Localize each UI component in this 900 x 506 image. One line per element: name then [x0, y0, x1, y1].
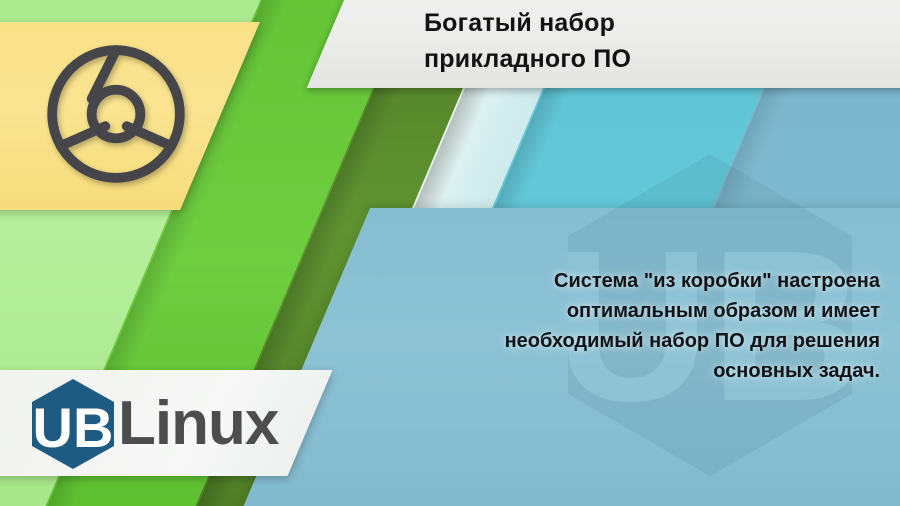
body-line-1: Система "из коробки" настроена: [410, 266, 880, 296]
ublinux-logo: UB Linux: [30, 378, 278, 470]
title-line-1: Богатый набор: [424, 6, 864, 42]
body-line-3: необходимый набор ПО для решения: [410, 326, 880, 356]
presentation-slide: UB Богатый набор прикладного ПО Система …: [0, 0, 900, 506]
title-line-2: прикладного ПО: [424, 42, 864, 78]
ub-mark-text: UB: [33, 396, 114, 459]
body-line-4: основных задач.: [410, 356, 880, 386]
body-line-2: оптимальным образом и имеет: [410, 296, 880, 326]
chrome-browser-icon: [40, 38, 192, 190]
ub-hexagon-icon: UB: [30, 378, 116, 470]
slide-body-text: Система "из коробки" настроена оптимальн…: [410, 266, 880, 386]
logo-wordmark: Linux: [118, 393, 278, 455]
slide-title: Богатый набор прикладного ПО: [424, 6, 864, 77]
